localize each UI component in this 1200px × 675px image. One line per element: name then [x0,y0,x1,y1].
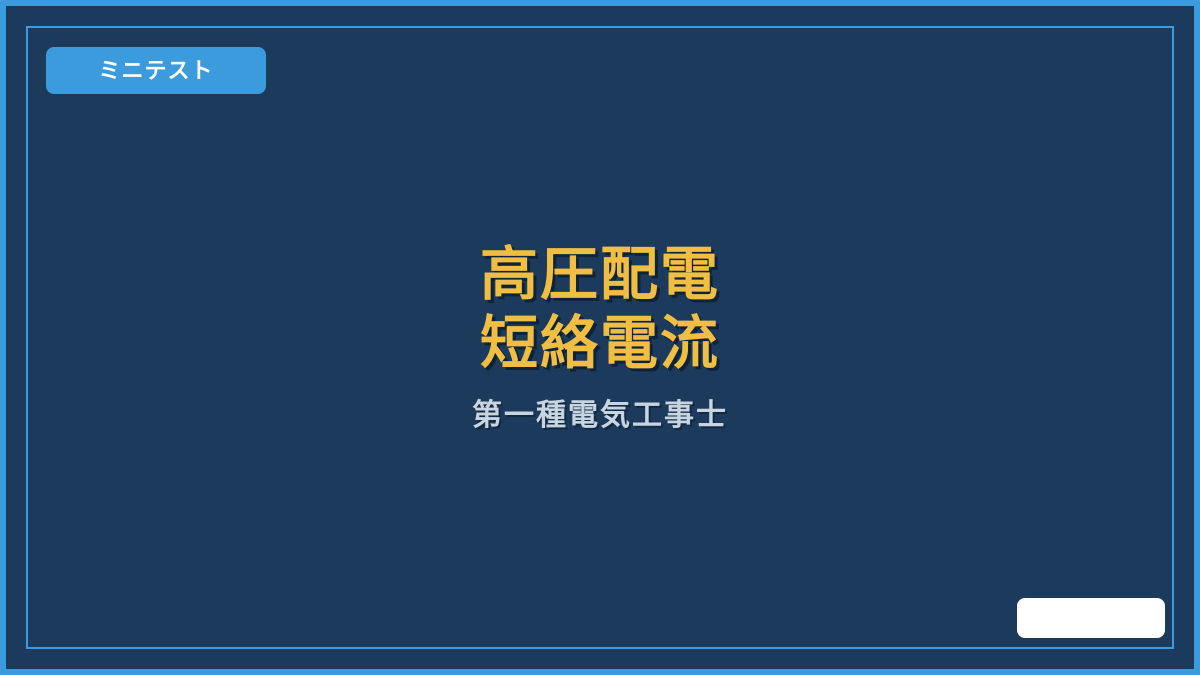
slide-root: ミニテスト 高圧配電 短絡電流 第一種電気工事士 [0,0,1200,675]
category-badge-label: ミニテスト [98,60,213,82]
slide-canvas: ミニテスト 高圧配電 短絡電流 第一種電気工事士 [6,6,1194,669]
page-title: 高圧配電 短絡電流 [480,241,720,378]
inner-frame-border [26,26,1174,649]
title-block: 高圧配電 短絡電流 第一種電気工事士 [6,6,1194,669]
page-title-line-2: 短絡電流 [480,310,720,378]
note-box [1017,598,1165,638]
page-subtitle: 第一種電気工事士 [472,398,728,434]
page-title-line-1: 高圧配電 [480,241,720,309]
category-badge: ミニテスト [46,47,266,94]
